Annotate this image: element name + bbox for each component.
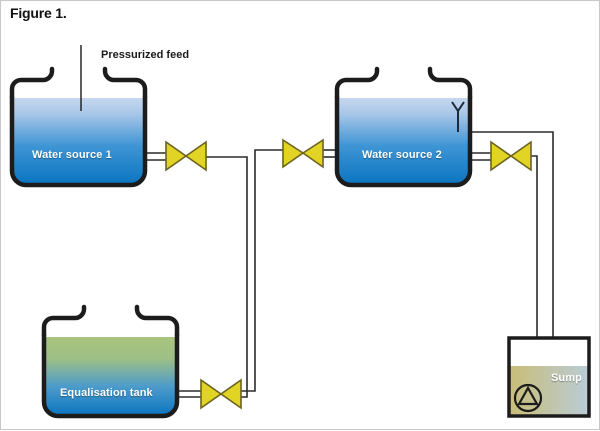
pipe-ws2-outlet — [470, 153, 491, 160]
water-source-2-tank — [337, 69, 470, 185]
pressurized-feed-label: Pressurized feed — [101, 49, 189, 61]
pipe-ws1-to-equalisation — [206, 157, 247, 397]
pipe-equalisation-outlet — [177, 391, 201, 397]
valve-ws2-outlet[interactable] — [491, 142, 531, 170]
pipe-equalisation-to-ws2 — [234, 150, 283, 391]
equalisation-tank — [44, 307, 177, 416]
pipe-ws1-outlet — [145, 153, 166, 160]
figure-canvas: Figure 1. — [0, 0, 600, 430]
process-flow-diagram — [1, 1, 600, 431]
water-source-1-tank — [12, 69, 145, 185]
valve-ws1-outlet[interactable] — [166, 142, 206, 170]
valve-ws2-inlet[interactable] — [283, 140, 323, 167]
valve-equalisation-outlet[interactable] — [201, 380, 241, 408]
